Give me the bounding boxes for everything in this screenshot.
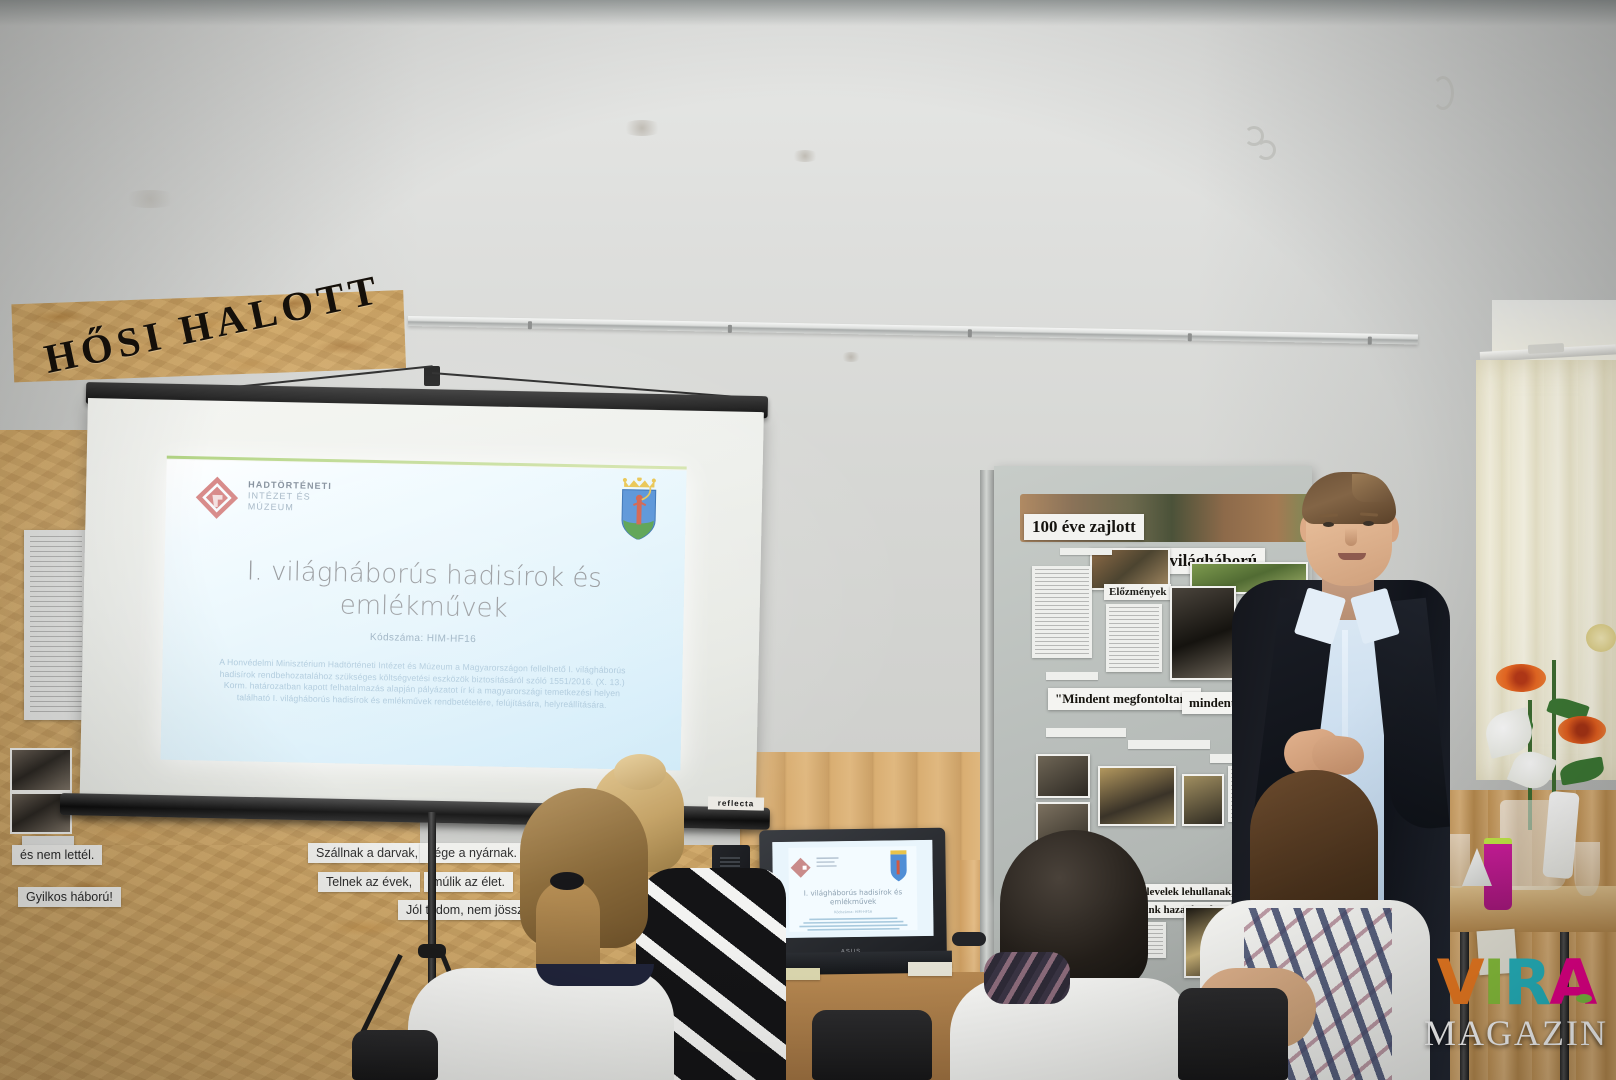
poster-text-column-mid [1106,604,1162,672]
tripod-hub [418,944,446,958]
side-table-leg-left [1460,932,1469,1080]
gerbera-flower-2 [1558,716,1606,744]
museum-name-block: HADTÖRTÉNETI INTÉZET ÉS MÚZEUM [248,479,332,514]
speaker-eye-left [1323,522,1334,527]
county-coat-of-arms-icon [617,477,660,540]
screen-hanger [424,366,440,386]
desk-paper-right [908,962,952,976]
svg-text:Kódszáma: HIM-HF16: Kódszáma: HIM-HF16 [834,910,873,915]
osb-note-4: Telnek az évek, [318,872,420,892]
audience-c-scarf [984,952,1070,1004]
speaker-mouth [1338,553,1366,560]
audience-b-hairtie [550,872,584,890]
poster-strip-caption [1060,548,1112,555]
audience-a-bun [614,754,666,790]
poster-text-column-left [1032,566,1092,658]
poster-small-caption-3 [1128,740,1210,749]
osb-note-0: és nem lettél. [12,845,102,865]
slide-title: I. világháborús hadisírok és emlékművek [203,554,644,627]
poster-photo-crowd-big [1098,766,1176,826]
poster-photo-crowd-small [1182,774,1224,826]
osb-note-1: Gyilkos háború! [18,887,121,907]
osb-photo-1 [10,748,72,792]
gerbera-flower-1 [1496,664,1546,692]
laptop-screen: I. világháborús hadisírok és emlékművek … [772,840,933,938]
wine-glass-2[interactable] [1574,842,1600,896]
photo-scene: HŐSI HALOTT és nem lettél. Gyilkos hábor… [0,0,1616,1080]
poster-section-heading: Előzmények [1104,584,1171,600]
svg-text:emlékművek: emlékművek [830,897,877,907]
osb-paper-poem [24,530,88,720]
chair-front-left[interactable] [1178,988,1288,1080]
slide-code: Kódszáma: HIM-HF16 [203,628,643,648]
slide-green-rule [167,456,687,470]
poster-photo-family [1170,586,1236,680]
museum-line-3: MÚZEUM [248,501,332,514]
rose-flower [1586,624,1616,652]
eyeglasses-icon [952,932,986,946]
table-card [1477,929,1518,976]
laptop-lid: I. világháborús hadisírok és emlékművek … [759,828,947,961]
ceiling-hook-3 [1256,140,1276,160]
pink-drinking-glass[interactable] [1484,838,1512,910]
hadtorteneti-muzeum-logo-icon [193,474,240,521]
audience-b-collar [536,964,654,986]
osb-note-2: Szállnak a darvak, [308,843,426,863]
slide-body-text: A Honvédelmi Minisztérium Hadtörténeti I… [214,657,631,712]
wall-stain-3 [840,352,862,362]
wall-stain-4 [120,190,180,208]
speaker-eye-right [1363,521,1374,526]
chair-center[interactable] [812,1010,932,1080]
side-table-leg-right [1560,932,1569,1080]
poster-small-caption-1 [1046,672,1098,680]
poster-small-caption-2 [1046,728,1126,737]
ceiling-hook-1 [1432,76,1454,110]
chair-far-left[interactable] [352,1030,438,1080]
poster-photo-street-1 [1036,754,1090,798]
wall-stain-1 [620,120,664,136]
laptop-slide-graphic: I. világháborús hadisírok és emlékművek … [772,840,933,938]
poster-headline-1: 100 éve zajlott [1024,514,1144,540]
speaker-nose [1345,528,1357,546]
osb-note-5: múlik az élet. [424,872,513,892]
poster-quote-left: "Mindent megfontoltam, [1048,688,1201,710]
wall-stain-2 [790,150,820,162]
slide-surface: HADTÖRTÉNETI INTÉZET ÉS MÚZEUM I. világh… [160,460,686,771]
screen-brand-label: reflecta [708,796,764,810]
